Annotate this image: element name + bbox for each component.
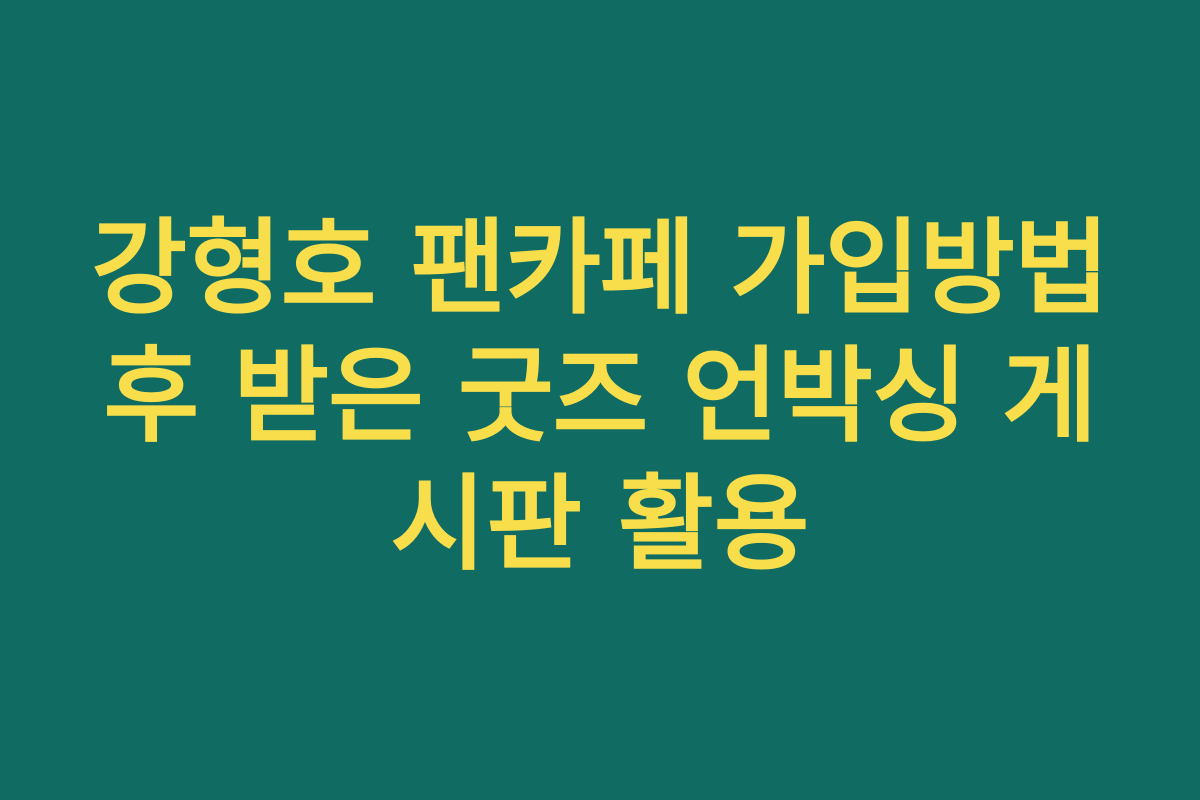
headline-line-2: 후 받은 굿즈 언박싱 게 (80, 332, 1120, 460)
headline-line-1: 강형호 팬카페 가입방법 (80, 204, 1120, 332)
headline-block: 강형호 팬카페 가입방법 후 받은 굿즈 언박싱 게 시판 활용 (80, 204, 1120, 588)
thumbnail-canvas: 강형호 팬카페 가입방법 후 받은 굿즈 언박싱 게 시판 활용 (0, 0, 1200, 800)
headline-line-3: 시판 활용 (80, 460, 1120, 588)
